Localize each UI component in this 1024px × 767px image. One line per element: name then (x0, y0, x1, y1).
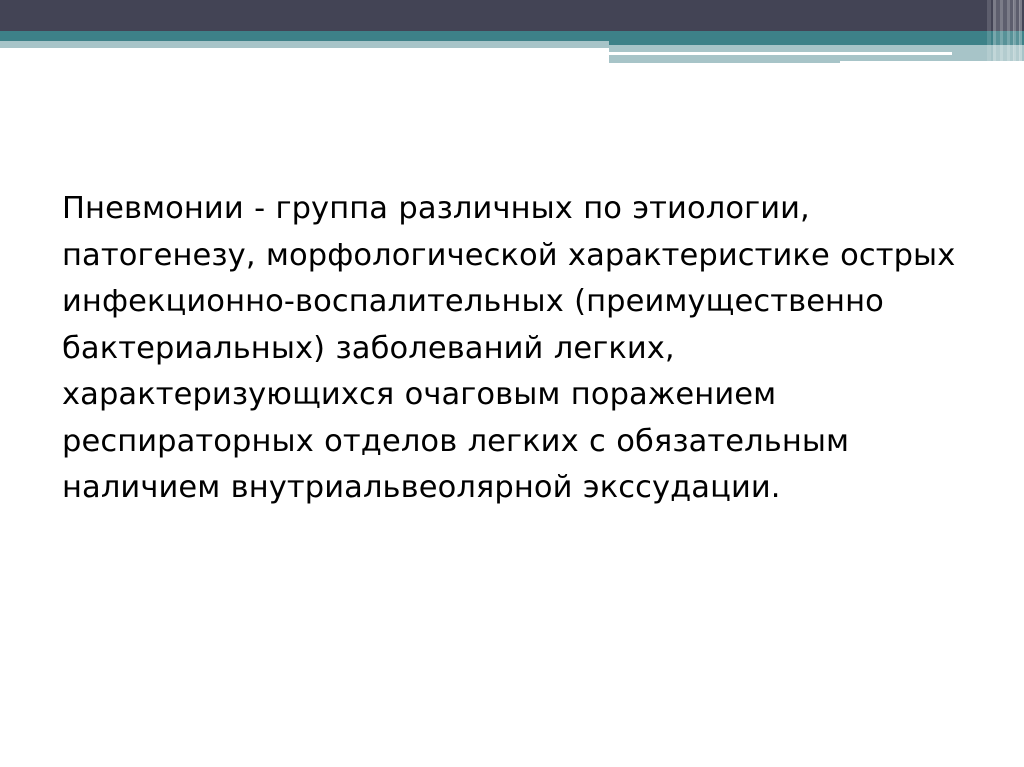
accent-stripe-4 (1013, 0, 1016, 63)
teal-band-left (0, 31, 609, 41)
accent-stripe-1 (993, 0, 996, 63)
light-teal-band-left (0, 41, 609, 48)
accent-stripe-5 (1019, 0, 1022, 63)
light-teal-band-right-upper (609, 45, 1024, 52)
dark-navy-band (0, 0, 1024, 31)
accent-stripe-dim-1 (987, 0, 991, 63)
definition-paragraph: Пневмонии - группа различных по этиологи… (62, 186, 957, 512)
decorative-header-banner (0, 0, 1024, 80)
teal-band-right (609, 31, 1024, 45)
slide-canvas: Пневмонии - группа различных по этиологи… (0, 0, 1024, 767)
accent-stripe-2 (1000, 0, 1003, 63)
slide-content-area: Пневмонии - группа различных по этиологи… (62, 186, 957, 512)
accent-stripe-3 (1007, 0, 1010, 63)
